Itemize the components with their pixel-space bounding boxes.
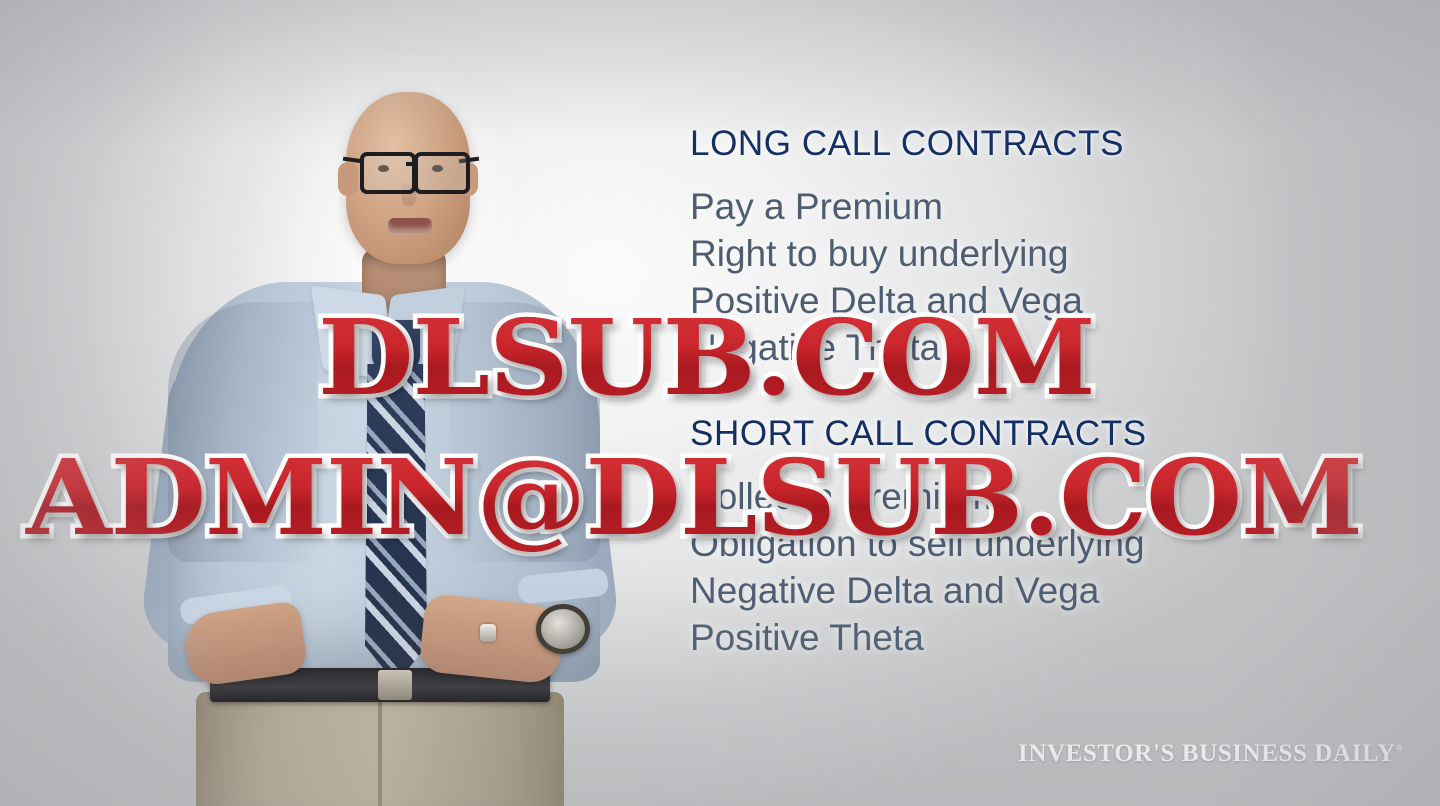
wedding-ring — [480, 624, 496, 642]
glasses-bridge — [406, 162, 418, 166]
short-call-line-4: Positive Theta — [690, 614, 1147, 661]
long-call-line-1: Pay a Premium — [690, 183, 1124, 230]
long-call-heading: LONG CALL CONTRACTS — [690, 124, 1124, 164]
trouser-seam — [378, 700, 382, 806]
watermark-email-text: ADMIN@DLSUB.COM — [26, 436, 1362, 559]
ibd-wordmark: INVESTOR'S BUSINESS DAILY — [1018, 740, 1396, 767]
long-call-line-2: Right to buy underlying — [690, 230, 1124, 277]
wristwatch — [536, 604, 590, 654]
glasses-left-lens — [360, 152, 416, 194]
watermark-site-text: DLSUB.COM — [318, 296, 1095, 419]
short-call-line-3: Negative Delta and Vega — [690, 567, 1147, 614]
registered-mark: ® — [1396, 744, 1404, 755]
left-ear — [338, 162, 358, 196]
presenter-figure — [150, 52, 620, 806]
glasses-right-lens — [414, 152, 470, 194]
video-frame: LONG CALL CONTRACTS Pay a Premium Right … — [0, 0, 1440, 806]
belt-buckle — [378, 670, 412, 700]
investors-business-daily-logo: INVESTOR'S BUSINESS DAILY® — [1018, 740, 1404, 768]
mouth — [388, 218, 432, 233]
